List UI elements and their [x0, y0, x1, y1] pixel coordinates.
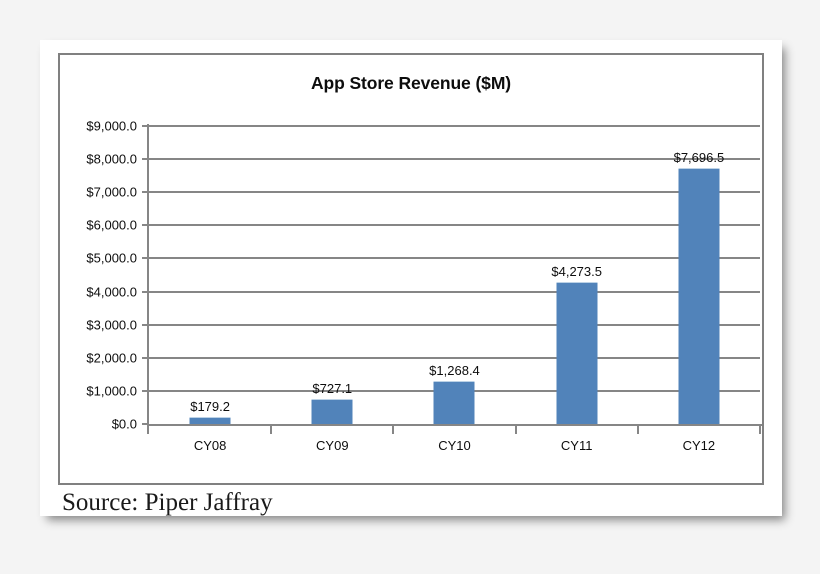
bar[interactable] — [190, 417, 231, 424]
bar[interactable] — [312, 399, 353, 424]
y-axis-tick — [142, 357, 149, 359]
y-axis-tick-label: $1,000.0 — [86, 383, 137, 398]
x-axis-tick — [637, 426, 639, 434]
y-axis-tick-label: $2,000.0 — [86, 350, 137, 365]
x-axis-tick-label: CY08 — [194, 438, 227, 453]
y-axis-tick-label: $3,000.0 — [86, 317, 137, 332]
chart-frame: App Store Revenue ($M) $0.0$1,000.0$2,00… — [58, 53, 764, 485]
x-axis-tick-label: CY11 — [561, 438, 593, 453]
y-axis-tick-label: $5,000.0 — [86, 251, 137, 266]
bar-group: $4,273.5 — [516, 126, 638, 424]
y-axis-tick-label: $4,000.0 — [86, 284, 137, 299]
plot-area: $0.0$1,000.0$2,000.0$3,000.0$4,000.0$5,0… — [149, 126, 760, 424]
bar-group: $179.2 — [149, 126, 271, 424]
y-axis-tick-label: $6,000.0 — [86, 218, 137, 233]
y-axis-tick — [142, 158, 149, 160]
bar-group: $727.1 — [271, 126, 393, 424]
y-axis-tick — [142, 125, 149, 127]
y-axis-tick-label: $7,000.0 — [86, 185, 137, 200]
bar-value-label: $1,268.4 — [429, 363, 480, 378]
x-axis-tick-label: CY12 — [683, 438, 716, 453]
source-note: Source: Piper Jaffray — [62, 489, 273, 517]
x-axis-tick — [759, 426, 761, 434]
y-axis-tick — [142, 324, 149, 326]
x-axis-tick — [147, 426, 149, 434]
y-axis-tick-label: $8,000.0 — [86, 152, 137, 167]
y-axis-tick-label: $0.0 — [112, 417, 137, 432]
chart-title: App Store Revenue ($M) — [60, 73, 762, 94]
bar[interactable] — [556, 282, 597, 425]
bar-value-label: $727.1 — [312, 381, 352, 396]
x-axis-tick-label: CY09 — [316, 438, 349, 453]
x-axis-line — [147, 424, 762, 426]
bar-value-label: $179.2 — [190, 399, 230, 414]
x-axis-tick — [270, 426, 272, 434]
y-axis-tick — [142, 291, 149, 293]
y-axis-tick-label: $9,000.0 — [86, 119, 137, 134]
x-axis-tick — [392, 426, 394, 434]
x-axis-tick-label: CY10 — [438, 438, 471, 453]
chart-card: App Store Revenue ($M) $0.0$1,000.0$2,00… — [40, 40, 782, 516]
y-axis-tick — [142, 390, 149, 392]
y-axis-tick — [142, 224, 149, 226]
bar-value-label: $4,273.5 — [551, 264, 602, 279]
bar-value-label: $7,696.5 — [674, 150, 725, 165]
y-axis-tick — [142, 423, 149, 425]
y-axis-tick — [142, 191, 149, 193]
bar-group: $1,268.4 — [393, 126, 515, 424]
x-axis-tick — [515, 426, 517, 434]
bar[interactable] — [434, 381, 475, 424]
y-axis-tick — [142, 257, 149, 259]
bar[interactable] — [678, 168, 719, 424]
bar-group: $7,696.5 — [638, 126, 760, 424]
